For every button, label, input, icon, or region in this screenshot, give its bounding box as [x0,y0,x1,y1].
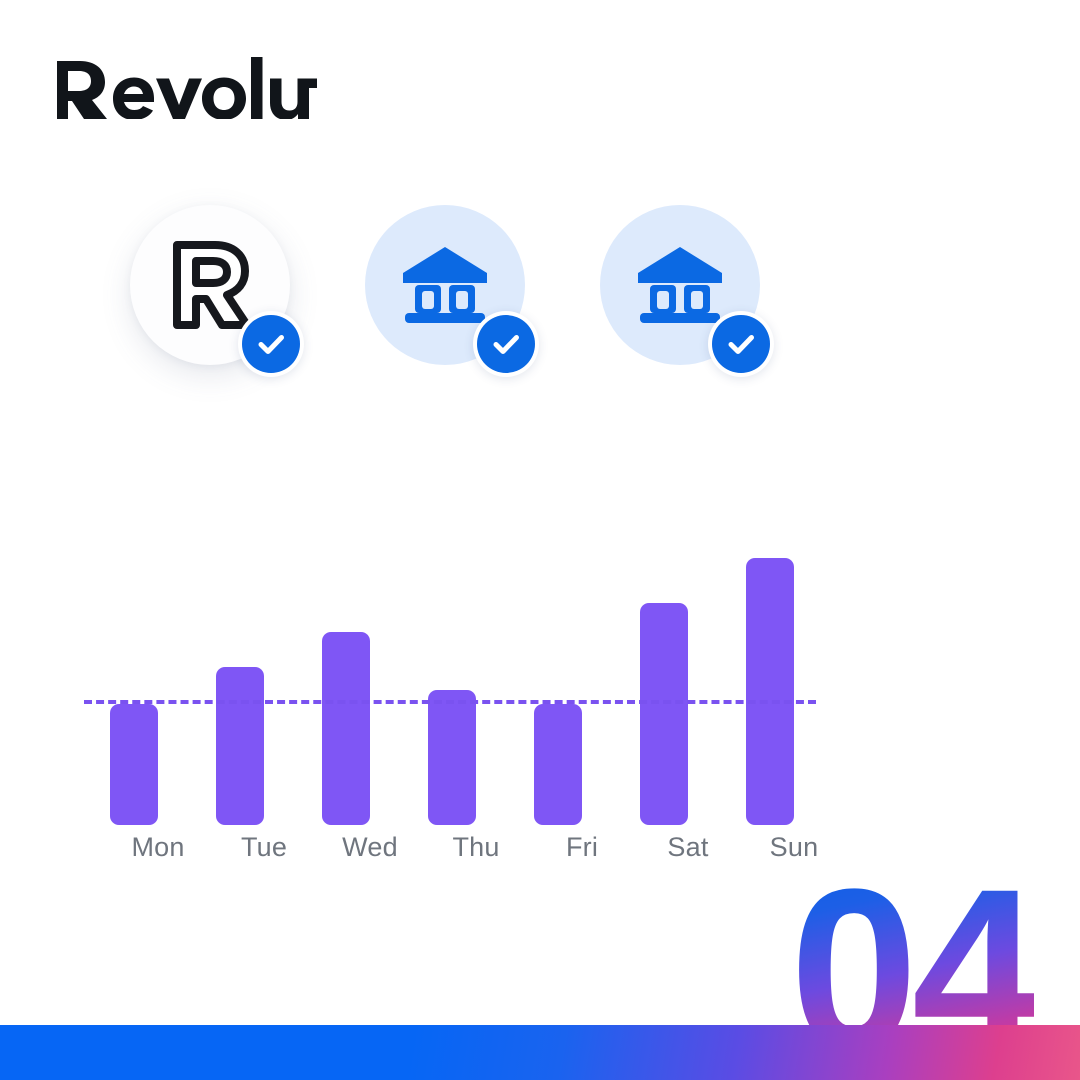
revolut-wordmark-icon [57,57,317,119]
revolut-r-icon [167,239,253,331]
bank-icon [401,245,489,325]
chart-bar[interactable] [216,667,264,825]
chart-bar[interactable] [110,704,158,825]
chart-bar[interactable] [640,603,688,825]
chart-plot-area [0,540,900,825]
axis-label-thu: Thu [421,832,531,863]
axis-label-tue: Tue [209,832,319,863]
weekly-spending-chart: MonTueWedThuFriSatSun [0,540,900,890]
verified-badge [238,311,304,377]
axis-label-mon: Mon [103,832,213,863]
slide-canvas: MonTueWedThuFriSatSun 04 [0,0,1080,1080]
verified-badge [708,311,774,377]
account-item-revolut[interactable] [130,205,290,365]
bottom-accent-bar [0,1025,1080,1080]
account-item-bank-2[interactable] [600,205,760,365]
chart-x-axis: MonTueWedThuFriSatSun [0,832,900,872]
chart-bar[interactable] [746,558,794,825]
verified-badge [473,311,539,377]
verified-check-icon [712,315,770,373]
verified-accounts-row [130,205,830,405]
chart-bar[interactable] [322,632,370,825]
chart-bar[interactable] [428,690,476,825]
account-item-bank-1[interactable] [365,205,525,365]
bank-icon [636,245,724,325]
axis-label-wed: Wed [315,832,425,863]
chart-threshold-line [84,700,816,704]
chart-bar[interactable] [534,704,582,825]
verified-check-icon [242,315,300,373]
axis-label-sat: Sat [633,832,743,863]
axis-label-fri: Fri [527,832,637,863]
verified-check-icon [477,315,535,373]
